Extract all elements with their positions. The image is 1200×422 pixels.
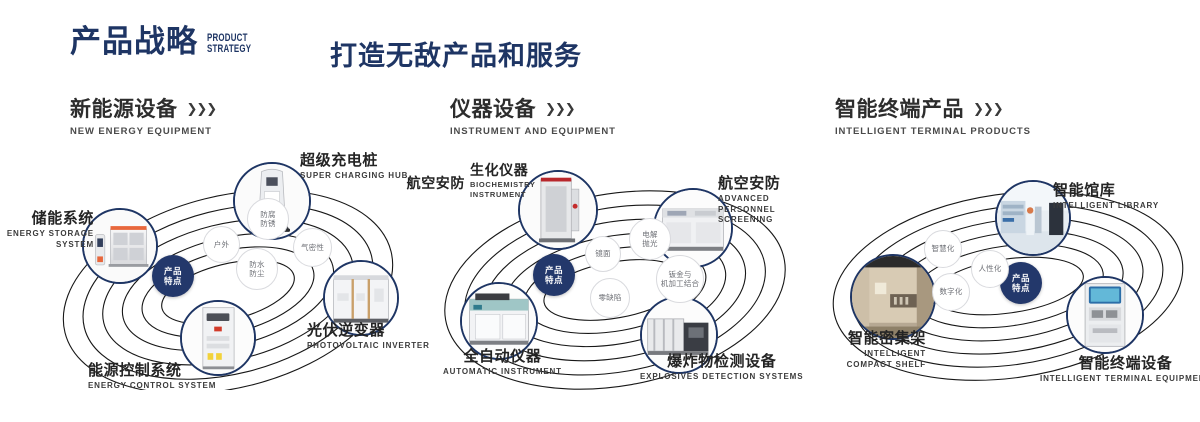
feature-bubble-label: 电解抛光 xyxy=(642,230,657,249)
caption-intelligent-library: 智能馆库 INTELLIGENT LIBRARY xyxy=(1053,182,1159,212)
caption-super-charging-hub: 超级充电桩 SUPER CHARGING HUB xyxy=(300,152,408,182)
feature-bubble-waterproof[interactable]: 防水防尘 xyxy=(236,248,278,290)
node-intelligent-compact-shelf[interactable] xyxy=(850,254,936,340)
section-heading-en: INSTRUMENT AND EQUIPMENT xyxy=(450,126,616,137)
section-heading-cn: 仪器设备 ❯❯❯ xyxy=(450,98,616,121)
page-slogan: 打造无敌产品和服务 xyxy=(330,34,582,73)
core-bubble-text: 产品 特点 xyxy=(164,266,182,286)
feature-bubble-humanized[interactable]: 人性化 xyxy=(971,250,1009,288)
caption-energy-storage: 储能系统 ENERGY STORAGE SYSTEM xyxy=(0,210,94,250)
core-bubble-product-features[interactable]: 产品 特点 xyxy=(152,255,194,297)
core-bubble-text: 产品 特点 xyxy=(1012,273,1030,293)
core-bubble-product-features[interactable]: 产品 特点 xyxy=(533,254,575,296)
feature-bubble-label: 钣金与机加工结合 xyxy=(661,270,700,289)
section-heading-en: INTELLIGENT TERMINAL PRODUCTS xyxy=(835,126,1031,137)
feature-bubble-label: 防水防尘 xyxy=(249,260,264,279)
core-bubble-text: 产品 特点 xyxy=(545,265,563,285)
automatic-instrument-photo xyxy=(462,284,536,358)
section-heading-en: NEW ENERGY EQUIPMENT xyxy=(70,126,216,137)
feature-bubble-sheetmetal-machining[interactable]: 钣金与机加工结合 xyxy=(656,255,704,303)
compact-shelf-photo xyxy=(852,256,934,338)
product-strategy-infographic: 产品战略 PRODUCT STRATEGY 打造无敌产品和服务 新能源设备 ❯❯… xyxy=(0,0,1200,422)
page-title-cn: 产品战略 xyxy=(70,26,198,57)
feature-bubble-digital[interactable]: 数字化 xyxy=(932,273,970,311)
page-title: 产品战略 PRODUCT STRATEGY xyxy=(70,26,268,57)
feature-bubble-mirror[interactable]: 镜面 xyxy=(585,236,621,272)
chevrons-right-icon: ❯❯❯ xyxy=(545,102,575,116)
section-heading-intelligent-terminal: 智能终端产品 ❯❯❯ INTELLIGENT TERMINAL PRODUCTS xyxy=(835,98,1031,137)
caption-explosives-detection: 爆炸物检测设备 EXPLOSIVES DETECTION SYSTEMS xyxy=(640,353,803,383)
chevrons-right-icon: ❯❯❯ xyxy=(973,102,1003,116)
page-title-en-line2: STRATEGY xyxy=(207,44,251,55)
caption-biochemistry-instrument: 生化仪器 BIOCHEMISTRY INSTRUMENT xyxy=(470,162,550,200)
caption-intelligent-compact-shelf: 智能密集架 INTELLIGENT COMPACT SHELF xyxy=(816,330,926,370)
feature-bubble-outdoor[interactable]: 户外 xyxy=(203,226,240,263)
feature-bubble-anticorrosion[interactable]: 防腐防锈 xyxy=(247,198,289,240)
caption-photovoltaic-inverter: 光伏逆变器 PHOTOVOLTAIC INVERTER xyxy=(307,322,430,352)
caption-aviation-security-left: 航空安防 xyxy=(400,175,465,191)
chevrons-right-icon: ❯❯❯ xyxy=(187,102,217,116)
feature-bubble-smart[interactable]: 智慧化 xyxy=(924,230,962,268)
section-heading-cn: 智能终端产品 ❯❯❯ xyxy=(835,98,1031,121)
feature-bubble-airtight[interactable]: 气密性 xyxy=(293,228,332,267)
section-heading-instrument: 仪器设备 ❯❯❯ INSTRUMENT AND EQUIPMENT xyxy=(450,98,616,137)
node-intelligent-terminal-equipment[interactable] xyxy=(1066,276,1144,354)
feature-bubble-zero-defect[interactable]: 零缺陷 xyxy=(590,278,630,318)
feature-bubble-electropolish[interactable]: 电解抛光 xyxy=(629,218,671,260)
terminal-equipment-photo xyxy=(1068,278,1142,352)
caption-automatic-instrument: 全自动仪器 AUTOMATIC INSTRUMENT xyxy=(443,348,562,378)
caption-energy-control-system: 能源控制系统 ENERGY CONTROL SYSTEM xyxy=(88,362,216,392)
feature-bubble-label: 防腐防锈 xyxy=(260,210,275,229)
section-heading-new-energy: 新能源设备 ❯❯❯ NEW ENERGY EQUIPMENT xyxy=(70,98,216,137)
section-heading-cn: 新能源设备 ❯❯❯ xyxy=(70,98,216,121)
caption-advanced-personnel-screening: 航空安防 ADVANCED PERSONNEL SCREENING xyxy=(718,175,828,225)
energy-storage-photo xyxy=(84,210,156,282)
page-title-en: PRODUCT STRATEGY xyxy=(207,33,251,55)
caption-intelligent-terminal-equipment: 智能终端设备 INTELLIGENT TERMINAL EQUIPMENT xyxy=(1040,355,1200,385)
cluster-new-energy: 产品 特点 户外 防腐防锈 防水防尘 气密性 xyxy=(40,160,420,390)
